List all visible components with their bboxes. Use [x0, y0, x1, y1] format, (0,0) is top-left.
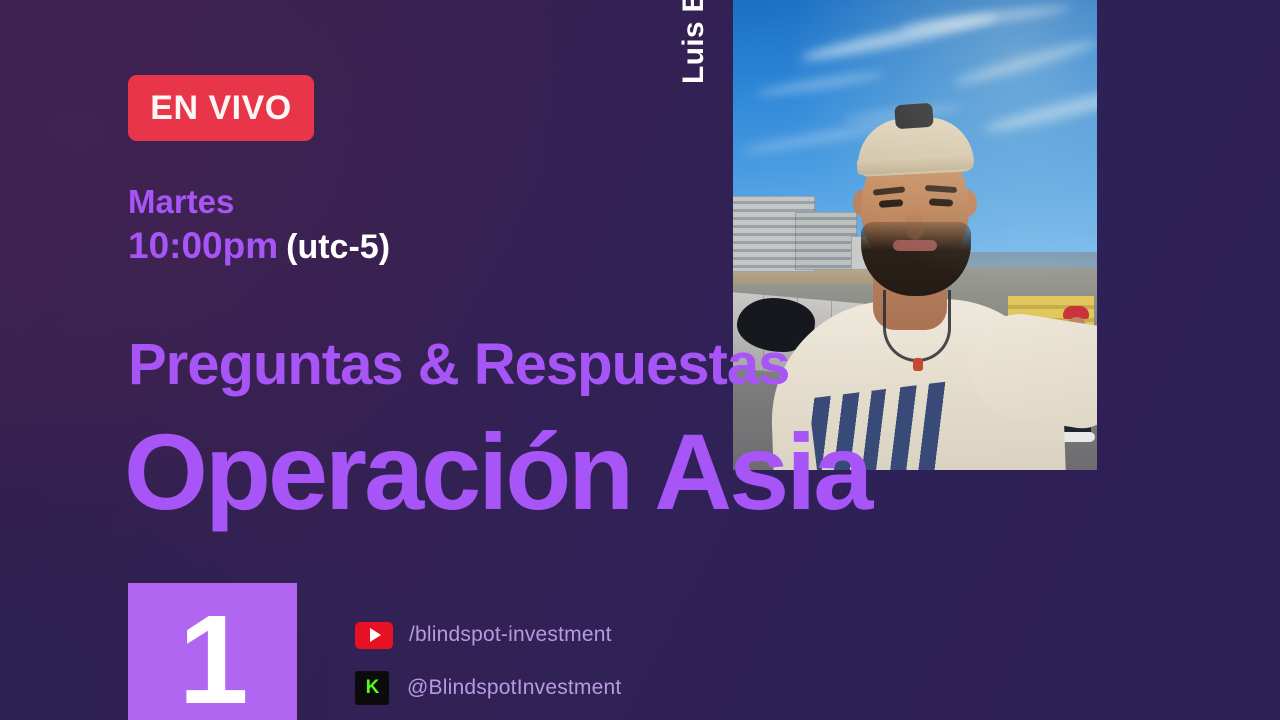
- schedule-timezone: (utc-5): [286, 228, 390, 266]
- eye-right: [929, 198, 953, 206]
- kick-handle: @BlindspotInvestment: [407, 676, 621, 700]
- guest-photo: [733, 0, 1097, 470]
- subject-portrait: [733, 0, 1097, 470]
- kick-icon: K: [355, 671, 389, 705]
- episode-number-box: 1: [128, 583, 297, 720]
- headline-subtitle: Preguntas & Respuestas: [128, 336, 789, 394]
- mouth: [893, 240, 937, 251]
- social-row-kick[interactable]: K @BlindspotInvestment: [355, 671, 621, 705]
- schedule-time: 10:00pm: [128, 225, 278, 266]
- youtube-icon: [355, 622, 393, 649]
- social-row-youtube[interactable]: /blindspot-investment: [355, 618, 621, 652]
- schedule-block: Martes 10:00pm(utc-5): [128, 182, 390, 278]
- social-links: /blindspot-investment K @BlindspotInvest…: [355, 618, 621, 720]
- episode-number: 1: [178, 597, 246, 720]
- guest-name-vertical: Luis Buelvas: [673, 0, 715, 84]
- schedule-day: Martes: [128, 182, 390, 222]
- live-badge: EN VIVO: [128, 75, 314, 141]
- necklace: [883, 290, 951, 362]
- page-title: Operación Asia: [124, 418, 870, 526]
- nose: [907, 210, 923, 240]
- youtube-handle: /blindspot-investment: [409, 623, 612, 647]
- cap-strap-clip: [894, 103, 934, 130]
- schedule-time-row: 10:00pm(utc-5): [128, 222, 390, 278]
- necklace-pendant: [913, 358, 923, 371]
- photo-canvas: [733, 0, 1097, 470]
- livestream-promo-graphic: Luis Buelvas EN VIVO Martes 10:00pm(utc-…: [0, 0, 1280, 720]
